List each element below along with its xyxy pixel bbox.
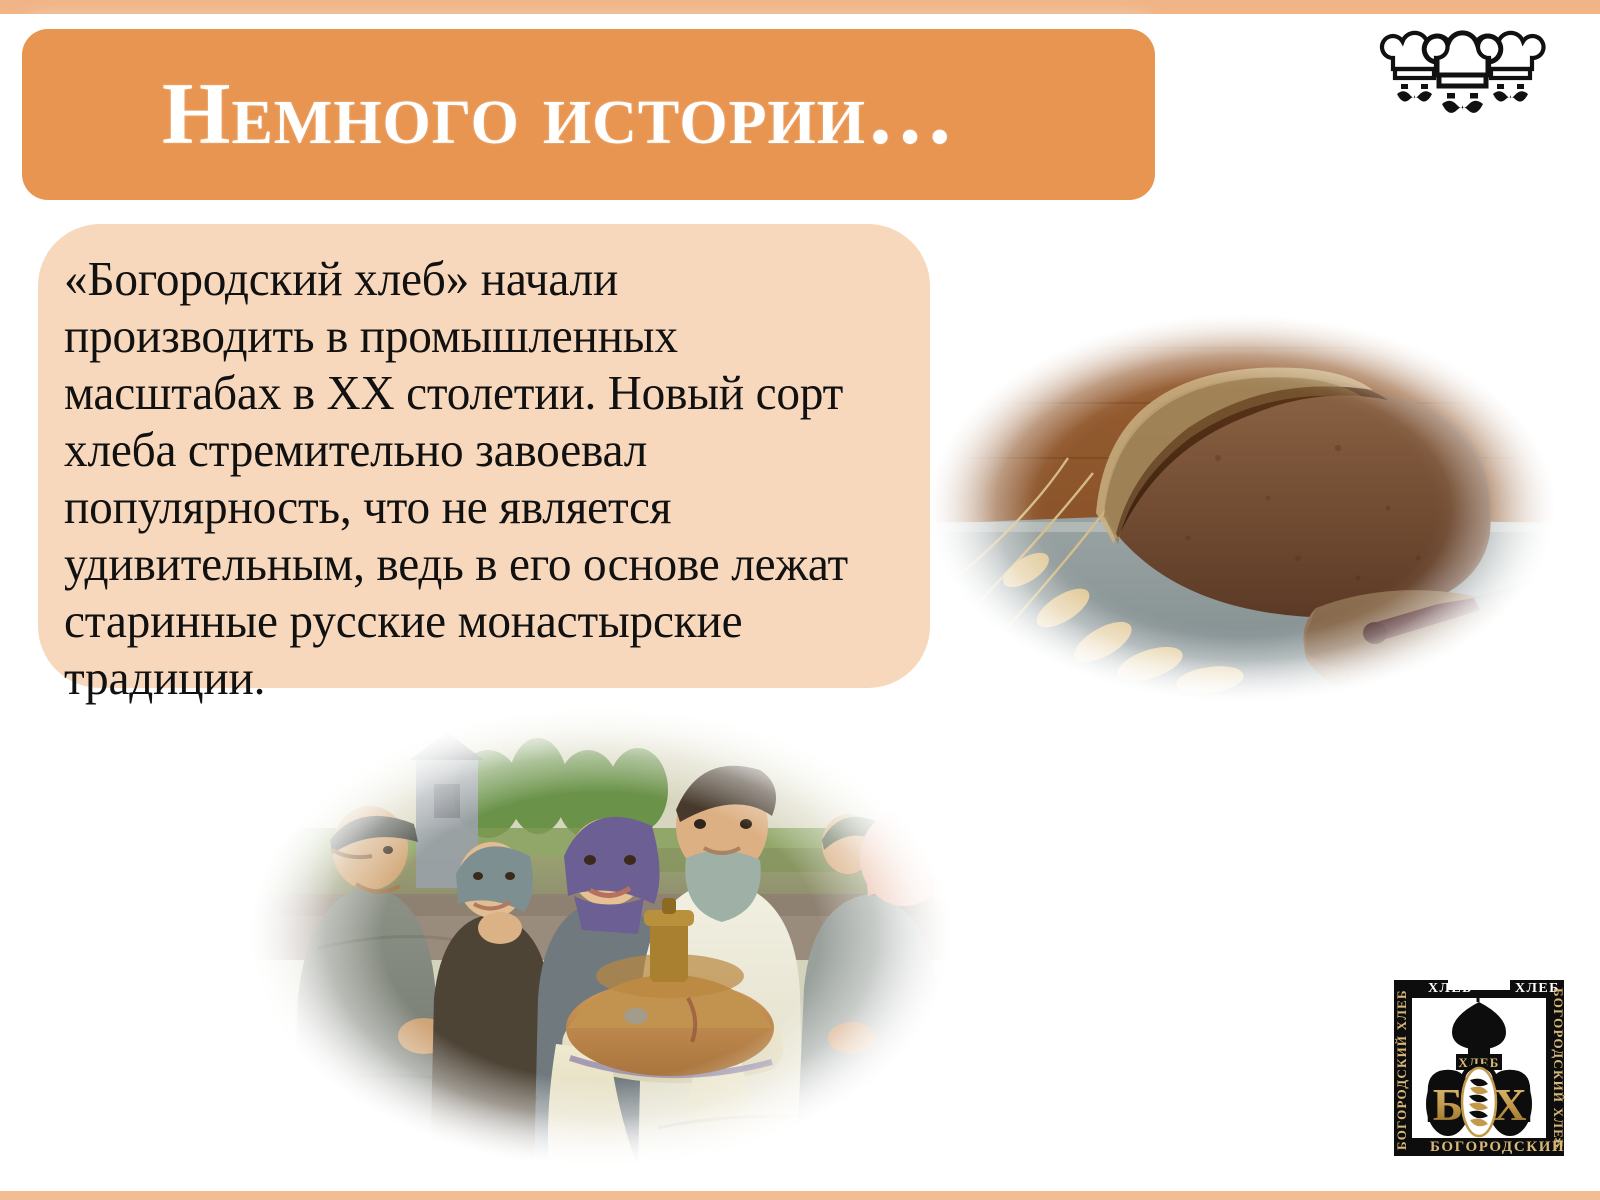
logo-letter-b: Б — [1433, 1079, 1463, 1130]
bottom-accent-strip — [0, 1191, 1600, 1200]
page-title: Немного истории… — [162, 71, 955, 159]
bread-and-salt-painting — [238, 698, 964, 1174]
top-accent-strip — [0, 0, 1600, 14]
slide-canvas: Немного истории… — [0, 0, 1600, 1200]
body-text: «Богородский хлеб» начали производить в … — [64, 250, 875, 706]
bogorodsky-hleb-logo: ХЛЕБ ХЛЕБ БОГОРОДСКИЙ БОГОРОДСКИЙ ХЛЕБ Б… — [1372, 944, 1586, 1160]
logo-ring-right: БОГОРОДСКИЙ ХЛЕБ — [1551, 988, 1566, 1149]
rye-bread-photo — [918, 308, 1566, 708]
body-text-panel: «Богородский хлеб» начали производить в … — [38, 224, 930, 688]
logo-top-left-label: ХЛЕБ — [1428, 981, 1473, 996]
title-banner: Немного истории… — [22, 29, 1155, 200]
three-chefs-icon — [1373, 22, 1548, 122]
logo-ring-bottom: БОГОРОДСКИЙ — [1430, 1138, 1565, 1155]
logo-letter-h: Х — [1493, 1079, 1526, 1130]
logo-ring-left: БОГОРОДСКИЙ ХЛЕБ — [1394, 989, 1409, 1150]
